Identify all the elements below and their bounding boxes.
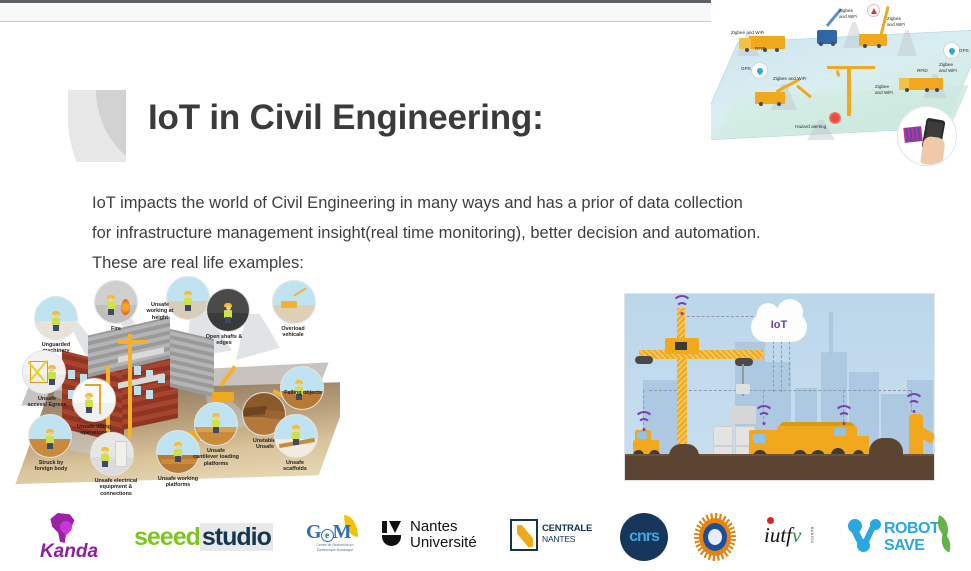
page-title: IoT in Civil Engineering: xyxy=(148,98,544,138)
gps-pin-icon xyxy=(751,62,768,79)
wifi-icon-loader-left xyxy=(633,416,655,431)
callout-overload-vehicle xyxy=(272,280,316,324)
logo-iutfv-text: iutfv xyxy=(764,523,801,548)
label-unsafe-scaffolds: Unsafescaffolds xyxy=(264,460,326,473)
wifi-icon-truck xyxy=(753,410,775,425)
logo-iutfv: iutfv BANGUI xyxy=(762,511,834,563)
callout-unsafe-electrical-equipment xyxy=(90,432,134,476)
hazard-alerting-icon xyxy=(829,112,841,124)
label-unsafe-cantilever-loading: Unsafecantilever loadingplatforms xyxy=(176,448,256,467)
logo-cnrs: cnrs xyxy=(620,511,672,563)
label-zigbee-wifi-6: Zigbeeand WiFi xyxy=(939,62,957,74)
iot-cloud-icon: IoT xyxy=(751,312,807,342)
label-gps-1: GPS xyxy=(741,66,751,72)
label-hazard-alerting: Hazard alerting xyxy=(795,124,826,130)
gps-pin-icon-2 xyxy=(943,42,960,59)
image-iot-construction-site: IoT xyxy=(624,293,935,481)
callout-unsafe-access-egress xyxy=(22,350,66,394)
wifi-icon-excavator xyxy=(903,398,925,413)
logo-robot-line1: ROBOT xyxy=(884,520,939,538)
logo-nantes-universite: NantesUniversité xyxy=(382,511,494,563)
callout-unguarded-machinery xyxy=(34,296,78,340)
hand-icon xyxy=(920,136,946,166)
label-zigbee-wifi-2: Zigbeeand WiFi xyxy=(839,8,857,20)
logo-robot-line2: SAVE xyxy=(884,537,924,555)
logo-kanda: Kanda xyxy=(26,511,112,563)
label-unsafe-working-at-height: Unsafeworking atheight xyxy=(132,302,188,321)
label-zigbee-wifi-4: Zigbee and WiFi xyxy=(773,76,806,82)
label-overload-vehicle: Overloadvehicale xyxy=(262,326,324,339)
callout-falling-objects xyxy=(280,366,324,410)
logo-seeed-studio: seeedstudio · · · · · · · · xyxy=(134,511,286,563)
nantes-mark-icon xyxy=(382,521,404,547)
robot-v-icon xyxy=(848,519,884,553)
label-open-shafts-edges: Open shafts &edges xyxy=(188,334,260,347)
leaf-icon-2 xyxy=(938,534,954,553)
logo-seeed-text-a: seeed xyxy=(134,523,200,551)
wifi-icon-loader xyxy=(833,410,855,425)
label-zigbee-wifi-3: Zigbeeand WiFi xyxy=(887,16,905,28)
image-construction-hazards: Unguardedmachinery Fire Unsafeworking at… xyxy=(10,274,340,502)
hazard-alert-icon xyxy=(867,4,880,17)
callout-struck-by-foreign-body xyxy=(28,414,72,458)
label-zigbee-wifi-1: Zigbee and WiFi xyxy=(731,30,764,36)
callout-unsafe-lifting-operations xyxy=(72,378,116,422)
image-iot-site-map: Zigbee and WiFi Zigbeeand WiFi Zigbeeand… xyxy=(711,0,971,172)
logo-centrale-line1: CENTRALE xyxy=(542,523,592,534)
logo-gem-subtext: Centre de Recherche enElectronique Numer… xyxy=(304,543,366,553)
wifi-icon-crane xyxy=(671,300,693,315)
title-decoration-shape xyxy=(68,90,126,162)
iot-cloud-label: IoT xyxy=(751,319,807,331)
label-zigbee-wifi-5: Zigbeeand WiFi xyxy=(875,84,893,96)
label-struck-by-foreign-body: Struck byforeign body xyxy=(14,460,88,473)
logo-gem-text: GeM xyxy=(306,521,351,544)
logo-gem: GeM Centre de Recherche enElectronique N… xyxy=(304,511,366,563)
body-line-2: for infrastructure management insight(re… xyxy=(92,218,852,248)
logo-robot-save: ROBOT SAVE xyxy=(848,511,958,563)
partner-logo-strip: Kanda seeedstudio · · · · · · · · GeM Ce… xyxy=(0,503,971,571)
label-rfid-2: RFID xyxy=(917,68,928,74)
centrale-mark-icon xyxy=(510,519,538,551)
logo-nantes-text: NantesUniversité xyxy=(410,519,477,551)
logo-university-crest xyxy=(690,511,740,563)
logo-iutfv-subtext: BANGUI xyxy=(810,527,814,544)
logo-cnrs-text: cnrs xyxy=(629,528,659,546)
label-fire: Fire xyxy=(96,326,136,332)
mobile-phone-callout xyxy=(897,106,957,166)
qr-code-icon xyxy=(903,126,922,143)
label-gps-2: GPS xyxy=(959,48,969,54)
logo-seeed-text-b: studio xyxy=(200,523,273,551)
callout-open-shafts-edges xyxy=(206,288,250,332)
logo-centrale-nantes: CENTRALE NANTES xyxy=(508,511,604,563)
body-line-1: IoT impacts the world of Civil Engineeri… xyxy=(92,188,852,218)
label-rfid-1: RFID xyxy=(755,46,766,52)
logo-kanda-text: Kanda xyxy=(26,541,112,563)
logo-seeed-subtext: · · · · · · · · xyxy=(138,549,201,554)
logo-centrale-line2: NANTES xyxy=(542,534,575,544)
callout-unsafe-scaffolds xyxy=(274,414,318,458)
slide-body-text: IoT impacts the world of Civil Engineeri… xyxy=(92,188,852,278)
slide-canvas: IoT in Civil Engineering: IoT impacts th… xyxy=(0,0,971,571)
label-unsafe-working-platforms: Unsafe workingplatforms xyxy=(138,476,218,489)
label-falling-objects: Falling objects xyxy=(268,390,338,396)
